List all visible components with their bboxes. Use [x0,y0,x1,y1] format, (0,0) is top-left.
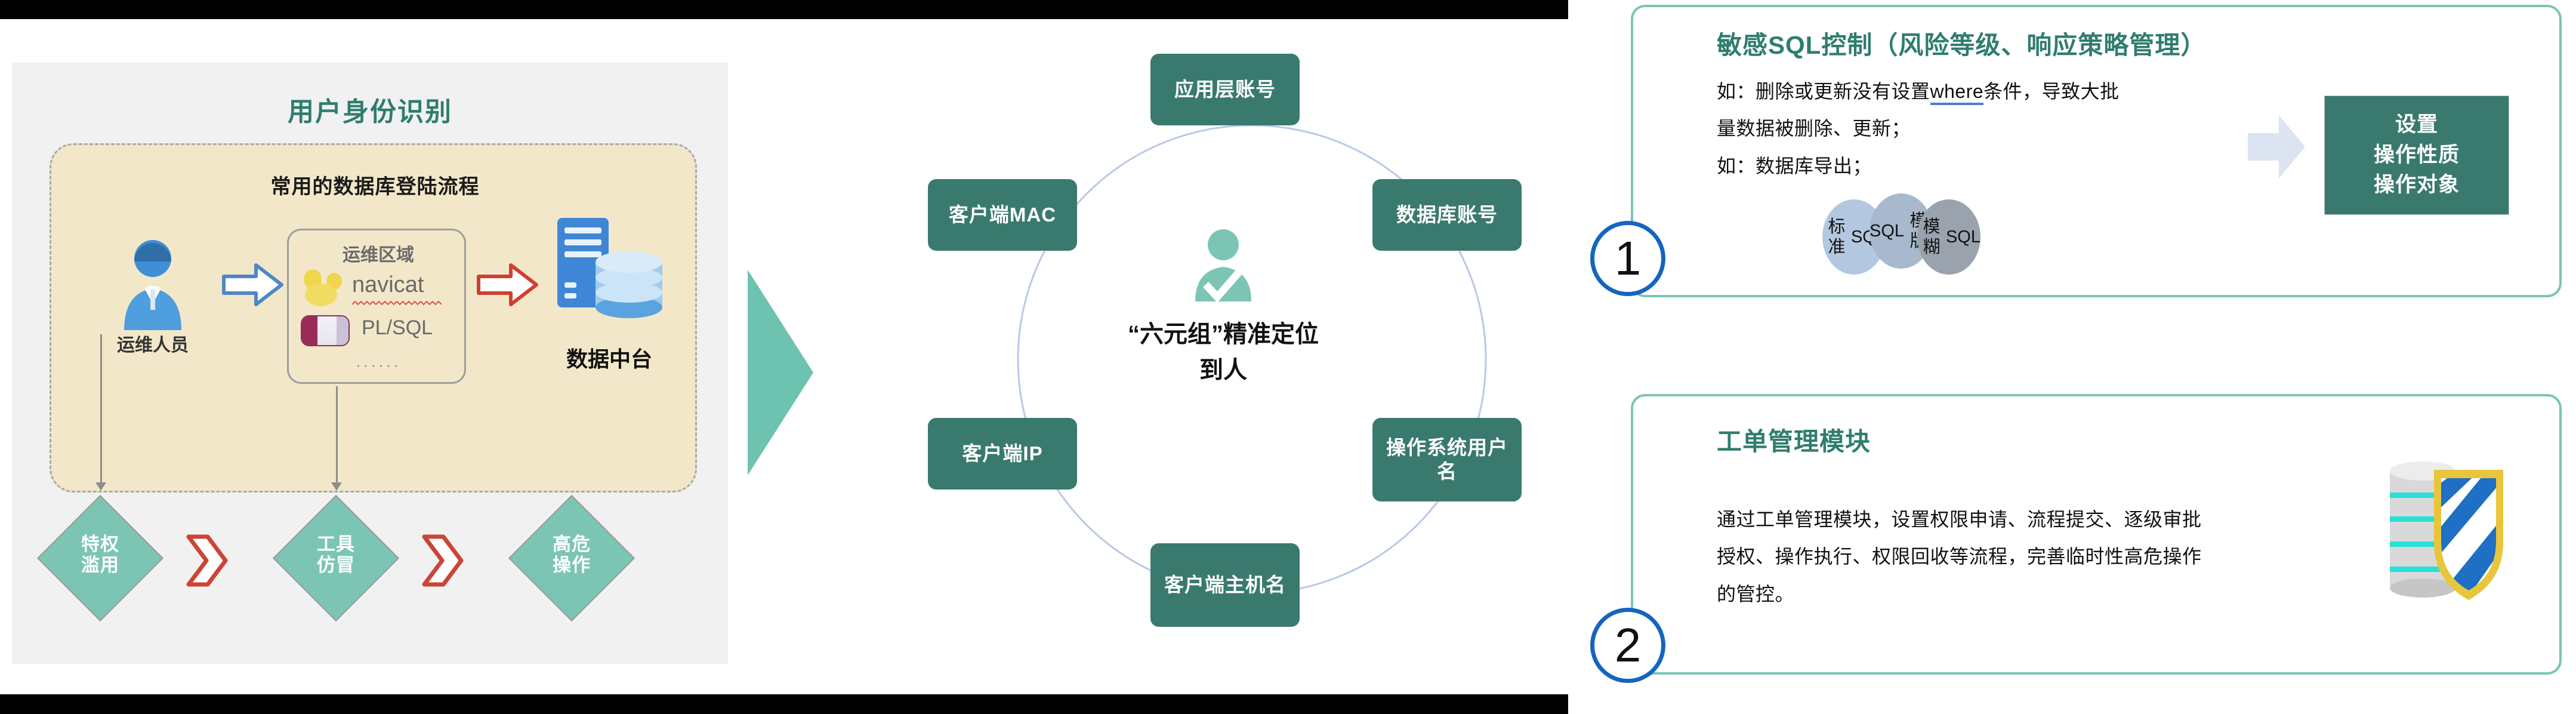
card-2-number-badge: 2 [1590,608,1665,683]
teal-box-line2: 操作性质 [2374,140,2460,171]
card-1-body-line2: 量数据被删除、更新； [1717,118,1911,139]
sql-ellipse-fuzzy-line2: SQL [1946,227,1980,247]
risk-2-line2: 仿冒 [317,555,355,575]
ops-zone-box: 运维区域 navicat PL/SQL [287,229,466,384]
sql-ellipse-standard-line1: 标准 [1822,217,1851,257]
chevron-right-2-icon [421,533,465,588]
card-1-body-line3: 如：数据库导出； [1717,155,1872,177]
six-tuple-caption: “六元组”精准定位 到人 [1038,316,1408,388]
navicat-row: navicat [297,267,461,309]
risk-1-line1: 特权 [81,534,119,555]
risk-diamond-2-label: 工具 仿冒 [282,534,390,575]
teal-box-line3: 操作对象 [2374,170,2460,201]
ring-node-client-ip[interactable]: 客户端IP [928,418,1077,490]
connector-line-2 [336,386,338,484]
card-ticket-management: 工单管理模块 通过工单管理模块，设置权限申请、流程提交、逐级审批 授权、操作执行… [1631,394,2562,675]
plsql-label: PL/SQL [362,316,433,340]
user-identity-panel: 用户身份识别 常用的数据库登陆流程 运维人员 运维区域 [12,63,728,664]
card-1-body-line1a: 如：删除或更新没有设置 [1717,81,1930,102]
risk-diamond-1-label: 特权 滥用 [47,534,154,575]
risk-2-line1: 工具 [317,534,355,555]
db-login-flow-box: 常用的数据库登陆流程 运维人员 运维区域 [50,143,697,493]
arrow-right-red-icon [476,261,539,308]
card-1-title: 敏感SQL控制（风险等级、响应策略管理） [1717,25,2206,61]
ring-node-app-account[interactable]: 应用层账号 [1150,54,1300,125]
operator-label: 运维人员 [87,330,218,356]
connector-line-1 [100,334,102,484]
spellcheck-squiggle-icon [352,301,442,306]
settings-teal-box[interactable]: 设置 操作性质 操作对象 [2324,96,2509,215]
ops-zone-title: 运维区域 [289,240,468,266]
arrow-right-pale-icon [2248,112,2305,182]
sql-ellipse-fuzzy[interactable]: 模糊 SQL [1917,199,1980,275]
card-1-number-badge: 1 [1590,221,1665,296]
sql-ellipse-template-line1: SQL [1869,221,1904,241]
data-platform-label: 数据中台 [523,342,696,373]
card-2-body: 通过工单管理模块，设置权限申请、流程提交、逐级审批 授权、操作执行、权限回收等流… [1717,501,2385,613]
card-1-body-line1b: 条件，导致大批 [1983,81,2120,102]
card-1-body: 如：删除或更新没有设置where条件，导致大批 量数据被删除、更新； 如：数据库… [1717,73,2254,184]
slide-root: 用户身份识别 常用的数据库登陆流程 运维人员 运维区域 [0,0,2576,714]
teal-box-line1: 设置 [2395,110,2438,140]
risk-3-line2: 操作 [553,555,591,575]
card-2-title: 工单管理模块 [1717,421,1871,458]
data-platform-database-icon [553,216,666,341]
letterbox-bar-top [0,0,1568,19]
navicat-logo-icon [301,270,346,307]
ring-node-client-hostname[interactable]: 客户端主机名 [1150,543,1300,627]
card-sensitive-sql-control: 敏感SQL控制（风险等级、响应策略管理） 如：删除或更新没有设置where条件，… [1631,5,2562,297]
six-tuple-caption-line2: 到人 [1199,357,1247,383]
sql-ellipse-fuzzy-line1: 模糊 [1917,217,1946,257]
more-tools-ellipsis: ······ [289,356,468,374]
ring-node-client-mac[interactable]: 客户端MAC [928,179,1077,251]
card-1-body-where-keyword: where [1930,81,1984,105]
connector-arrowhead-2 [331,482,342,491]
risk-1-line2: 滥用 [81,555,119,575]
risk-3-line1: 高危 [553,534,591,555]
six-tuple-caption-line1: “六元组”精准定位 [1128,321,1319,347]
operator-person-icon [111,235,195,330]
card-2-body-line2: 授权、操作执行、权限回收等流程，完善临时性高危操作 [1717,546,2202,567]
card-2-body-line1: 通过工单管理模块，设置权限申请、流程提交、逐级审批 [1717,509,2202,530]
connector-arrowhead-1 [95,482,106,491]
ring-node-os-username[interactable]: 操作系统用户名 [1372,418,1522,501]
ring-node-db-account[interactable]: 数据库账号 [1372,179,1522,251]
database-shield-icon [2379,453,2516,608]
risk-diamond-3-label: 高危 操作 [518,534,625,575]
chevron-right-1-icon [185,533,229,588]
card-2-body-line3: 的管控。 [1717,583,1794,605]
letterbox-bar-bottom [0,694,1568,714]
verified-user-icon [1190,227,1256,301]
section-transition-triangle-icon [748,270,813,475]
db-login-flow-title: 常用的数据库登陆流程 [51,170,699,199]
plsql-row: PL/SQL [297,314,461,350]
plsql-logo-icon [301,315,350,346]
page-title: 用户身份识别 [12,90,728,128]
navicat-label: navicat [352,272,424,298]
arrow-right-blue-icon [221,261,284,308]
